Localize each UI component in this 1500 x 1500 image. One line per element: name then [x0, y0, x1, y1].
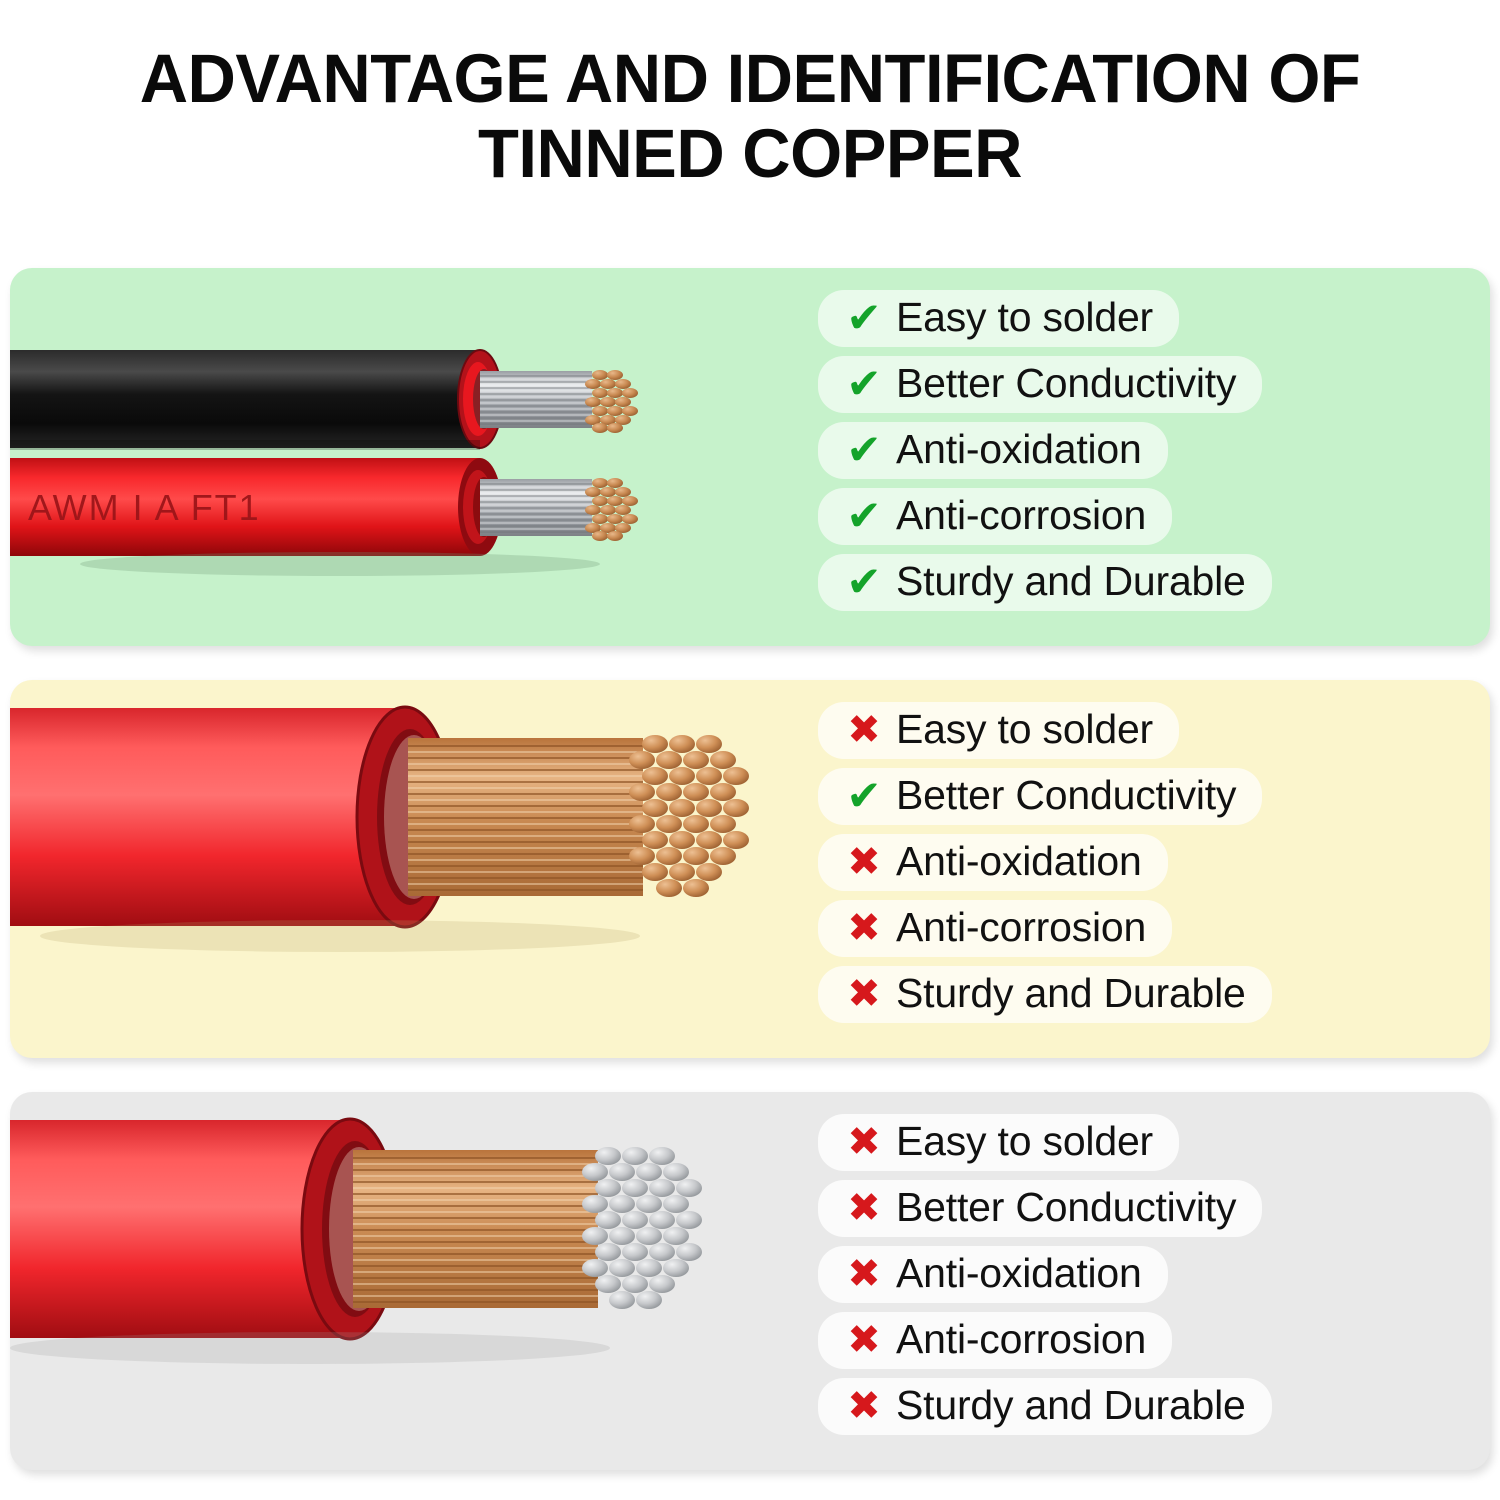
feature-item: ✖ Better Conductivity — [818, 1180, 1262, 1237]
cross-icon: ✖ — [836, 974, 892, 1014]
cross-icon: ✖ — [836, 1188, 892, 1228]
feature-item: ✔ Better Conductivity — [818, 768, 1262, 825]
check-icon: ✔ — [836, 495, 892, 537]
tinned-copper-wire-svg: AWM I A FT1 — [10, 268, 810, 646]
wire-illustration-tinned-copper: AWM I A FT1 — [10, 268, 810, 646]
feature-label: Anti-corrosion — [892, 904, 1146, 951]
wire-illustration-cca — [10, 1092, 810, 1470]
feature-list-tinned-copper: ✔ Easy to solder ✔ Better Conductivity ✔… — [810, 268, 1490, 646]
check-icon: ✔ — [836, 297, 892, 339]
feature-label: Easy to solder — [892, 294, 1153, 341]
cross-icon: ✖ — [836, 908, 892, 948]
check-icon: ✔ — [836, 775, 892, 817]
feature-item: ✖ Anti-oxidation — [818, 834, 1168, 891]
check-icon: ✔ — [836, 561, 892, 603]
cross-icon: ✖ — [836, 710, 892, 750]
feature-label: Easy to solder — [892, 706, 1153, 753]
feature-label: Easy to solder — [892, 1118, 1153, 1165]
feature-label: Better Conductivity — [892, 360, 1236, 407]
feature-label: Anti-oxidation — [892, 1250, 1142, 1297]
feature-label: Sturdy and Durable — [892, 970, 1246, 1017]
feature-label: Anti-oxidation — [892, 838, 1142, 885]
check-icon: ✔ — [836, 429, 892, 471]
cca-wire-svg — [10, 1092, 810, 1470]
feature-item: ✔ Anti-corrosion — [818, 488, 1172, 545]
panel-tinned-copper: AWM I A FT1 — [10, 268, 1490, 646]
black-wire — [10, 350, 638, 450]
red-wire: AWM I A FT1 — [10, 458, 638, 576]
cca-strand-bundle — [353, 1147, 702, 1309]
page-title: ADVANTAGE AND IDENTIFICATION OF TINNED C… — [23, 0, 1478, 191]
feature-item: ✖ Easy to solder — [818, 702, 1179, 759]
pure-copper-wire-svg — [10, 680, 810, 1058]
feature-item: ✖ Anti-corrosion — [818, 1312, 1172, 1369]
feature-label: Anti-corrosion — [892, 1316, 1146, 1363]
wire-illustration-pure-copper — [10, 680, 810, 1058]
feature-item: ✖ Easy to solder — [818, 1114, 1179, 1171]
panel-cca: CCA(Copper Clad Aluminum) ✖ Easy to sold… — [10, 1092, 1490, 1470]
feature-label: Better Conductivity — [892, 1184, 1236, 1231]
feature-list-cca: ✖ Easy to solder ✖ Better Conductivity ✖… — [810, 1092, 1490, 1470]
feature-item: ✔ Anti-oxidation — [818, 422, 1168, 479]
feature-label: Sturdy and Durable — [892, 558, 1246, 605]
panel-pure-copper: Pure Copper ✖ Easy to solder ✔ Better Co… — [10, 680, 1490, 1058]
feature-list-pure-copper: ✖ Easy to solder ✔ Better Conductivity ✖… — [810, 680, 1490, 1058]
red-jacket-wire — [10, 707, 453, 927]
copper-tip-cluster-black — [585, 370, 638, 433]
cross-icon: ✖ — [836, 1386, 892, 1426]
feature-label: Anti-corrosion — [892, 492, 1146, 539]
feature-item: ✔ Easy to solder — [818, 290, 1179, 347]
check-icon: ✔ — [836, 363, 892, 405]
infographic-page: ADVANTAGE AND IDENTIFICATION OF TINNED C… — [0, 0, 1500, 1500]
copper-tip-cluster — [629, 735, 749, 897]
feature-item: ✔ Sturdy and Durable — [818, 554, 1272, 611]
feature-label: Better Conductivity — [892, 772, 1236, 819]
red-jacket-wire — [10, 1119, 398, 1339]
cross-icon: ✖ — [836, 1122, 892, 1162]
feature-item: ✖ Anti-oxidation — [818, 1246, 1168, 1303]
feature-item: ✖ Sturdy and Durable — [818, 1378, 1272, 1435]
feature-label: Sturdy and Durable — [892, 1382, 1246, 1429]
copper-tip-cluster-red — [585, 478, 638, 541]
wire-printed-text: AWM I A FT1 — [28, 487, 261, 528]
cross-icon: ✖ — [836, 1320, 892, 1360]
feature-item: ✖ Anti-corrosion — [818, 900, 1172, 957]
cross-icon: ✖ — [836, 1254, 892, 1294]
aluminum-tip-cluster — [582, 1147, 702, 1309]
feature-label: Anti-oxidation — [892, 426, 1142, 473]
feature-item: ✖ Sturdy and Durable — [818, 966, 1272, 1023]
copper-strand-bundle — [408, 735, 749, 897]
feature-item: ✔ Better Conductivity — [818, 356, 1262, 413]
cross-icon: ✖ — [836, 842, 892, 882]
